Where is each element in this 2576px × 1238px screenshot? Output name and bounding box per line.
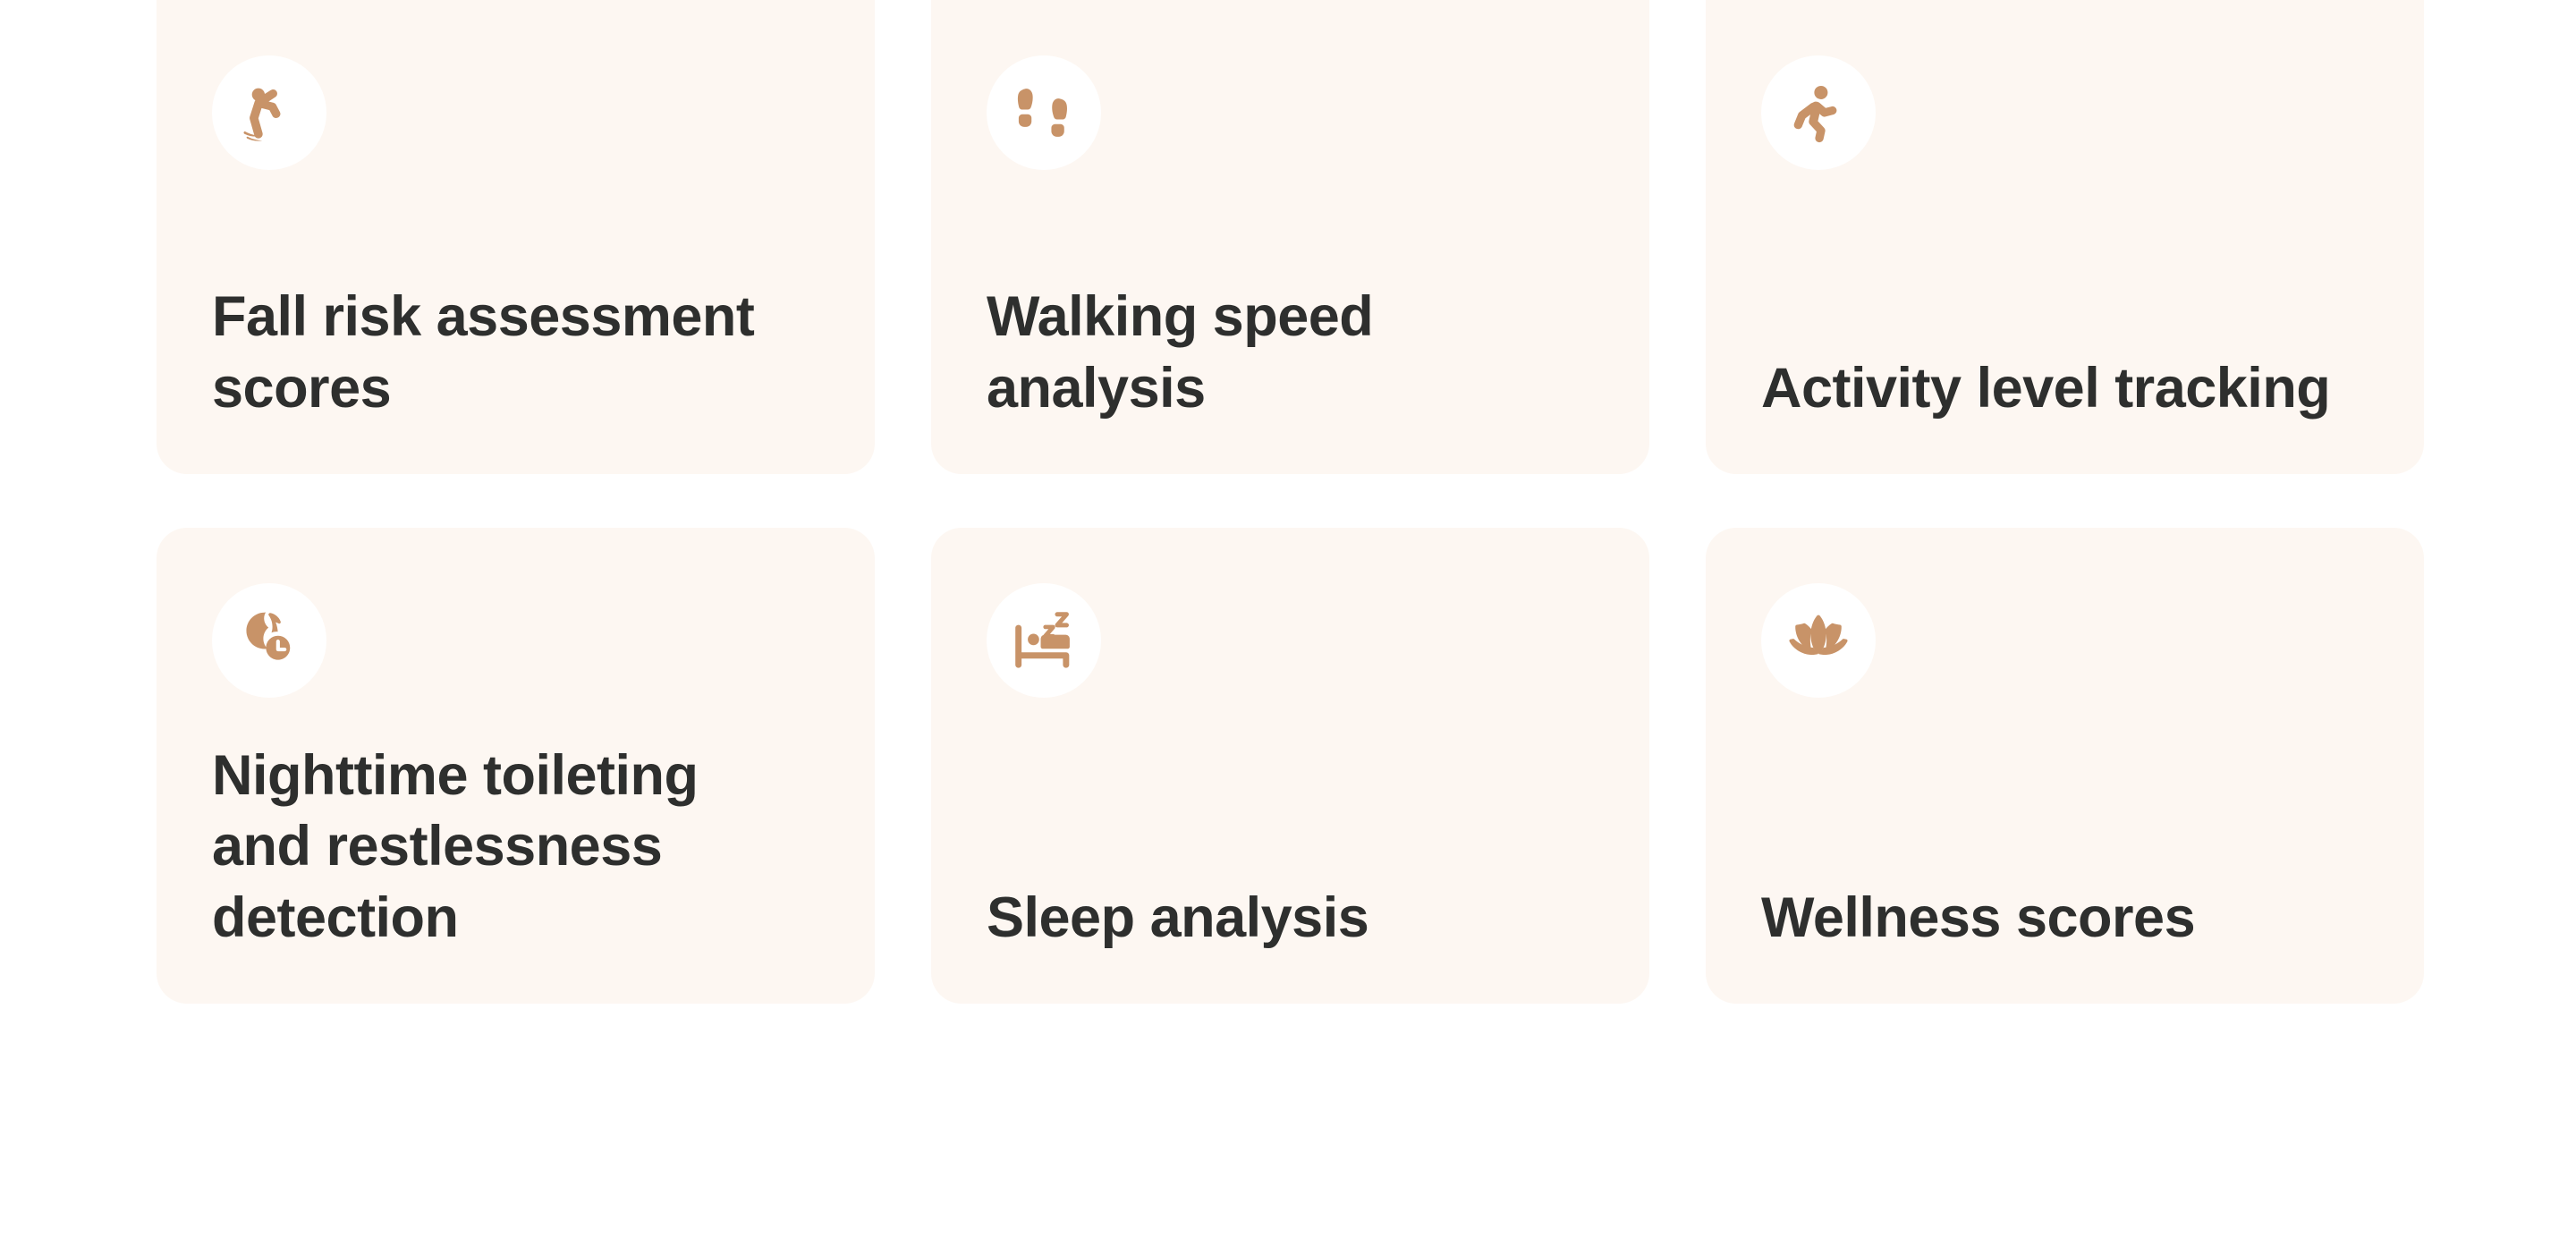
icon-badge [987,55,1101,170]
card-title: Fall risk assessment scores [212,282,802,424]
feature-card-fall-risk-assessment-scores[interactable]: Fall risk assessment scores [157,0,875,474]
feature-card-nighttime-toileting-and-restlessness-detection[interactable]: Nighttime toileting and restlessness det… [157,528,875,1004]
feature-card-walking-speed-analysis[interactable]: Walking speed analysis [931,0,1649,474]
icon-badge [1761,55,1876,170]
moon-clock-icon [236,607,302,674]
feature-card-wellness-scores[interactable]: Wellness scores [1706,528,2424,1004]
card-title: Nighttime toileting and restlessness det… [212,741,749,954]
feature-card-grid: Fall risk assessment scores Walking spee… [157,0,2424,1004]
person-running-icon [1785,80,1851,146]
card-title: Wellness scores [1761,883,2351,954]
person-falling-icon [236,80,302,146]
card-title: Sleep analysis [987,883,1577,954]
lotus-flower-icon [1785,607,1851,674]
icon-badge [1761,583,1876,698]
card-title: Walking speed analysis [987,282,1577,424]
icon-badge [212,583,326,698]
icon-badge [987,583,1101,698]
card-title: Activity level tracking [1761,353,2351,424]
bed-sleep-icon [1011,607,1077,674]
feature-card-sleep-analysis[interactable]: Sleep analysis [931,528,1649,1004]
icon-badge [212,55,326,170]
feature-card-activity-level-tracking[interactable]: Activity level tracking [1706,0,2424,474]
footprints-icon [1011,80,1077,146]
